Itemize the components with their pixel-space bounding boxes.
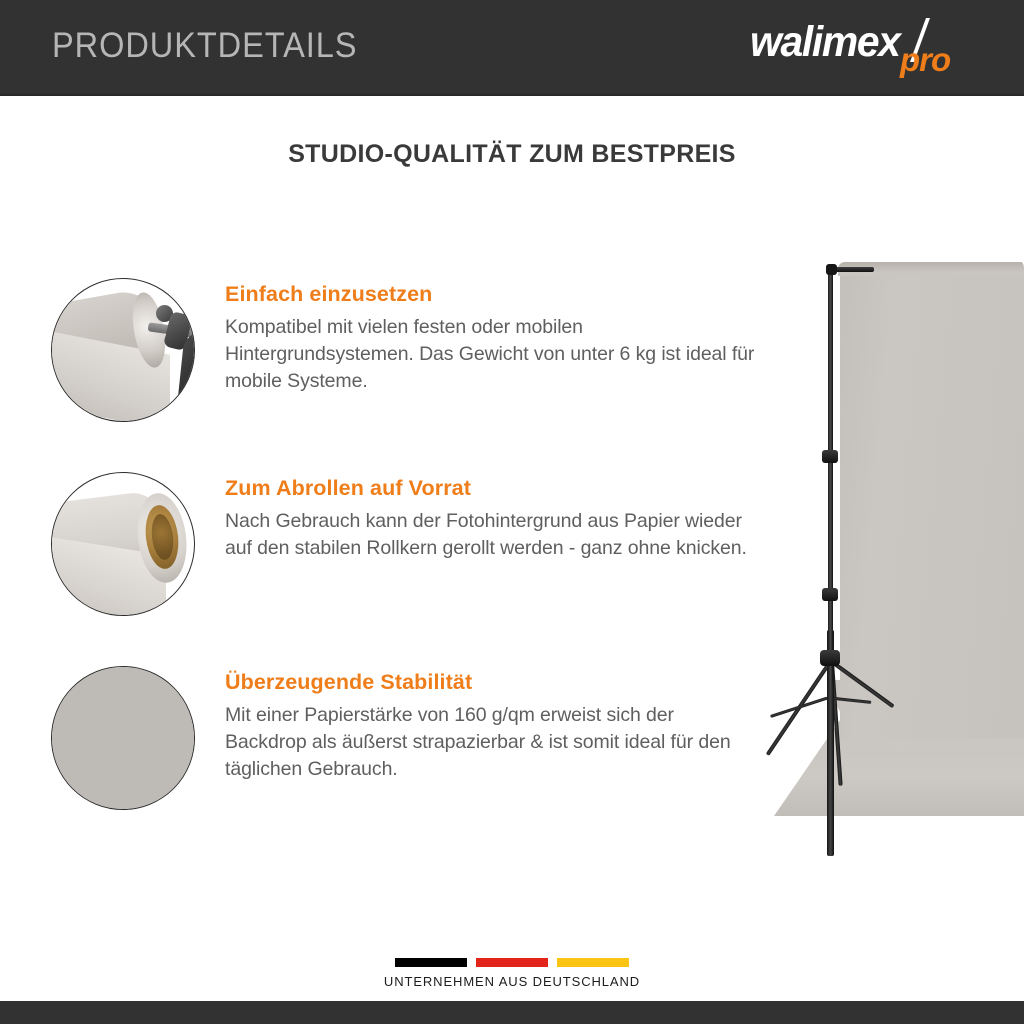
paper-roll-with-core-icon <box>51 472 195 616</box>
main-headline: STUDIO-QUALITÄT ZUM BESTPREIS <box>0 140 1024 169</box>
page-header: PRODUKTDETAILS walimex pro <box>0 0 1024 96</box>
product-detail-infographic: PRODUKTDETAILS walimex pro STUDIO-QUALIT… <box>0 0 1024 1024</box>
feature-body: Mit einer Papierstärke von 160 g/qm erwe… <box>225 702 755 783</box>
flag-bar-black <box>395 958 467 967</box>
feature-body: Kompatibel mit vielen festen oder mobile… <box>225 314 755 395</box>
stand-upper-pole <box>828 272 833 686</box>
logo-brand-text: walimex <box>750 18 900 67</box>
german-flag-bars <box>0 958 1024 967</box>
logo-suffix-text: pro <box>900 41 950 79</box>
stand-collar-upper <box>822 450 838 463</box>
feature-body: Nach Gebrauch kann der Fotohintergrund a… <box>225 508 755 562</box>
paper-roll-on-clamp-icon <box>51 278 195 422</box>
footer-caption: UNTERNEHMEN AUS DEUTSCHLAND <box>0 974 1024 989</box>
footer: UNTERNEHMEN AUS DEUTSCHLAND <box>0 958 1024 989</box>
feature-text-block: Überzeugende Stabilität Mit einer Papier… <box>225 670 755 783</box>
backdrop-paper-wall <box>840 268 1024 738</box>
feature-text-block: Zum Abrollen auf Vorrat Nach Gebrauch ka… <box>225 476 755 562</box>
flag-bar-red <box>476 958 548 967</box>
tripod-brace-left <box>770 697 828 718</box>
walimex-pro-logo: walimex pro <box>750 16 988 78</box>
stand-elbow-joint <box>826 264 837 275</box>
feature-text-block: Einfach einzusetzen Kompatibel mit viele… <box>225 282 755 395</box>
feature-title: Überzeugende Stabilität <box>225 670 755 695</box>
feature-title: Einfach einzusetzen <box>225 282 755 307</box>
page-title: PRODUKTDETAILS <box>52 26 357 66</box>
flag-bar-gold <box>557 958 629 967</box>
tripod-hub <box>820 650 840 666</box>
stand-collar-lower <box>822 588 838 601</box>
feature-title: Zum Abrollen auf Vorrat <box>225 476 755 501</box>
grey-paper-swatch-icon <box>51 666 195 810</box>
bottom-bar <box>0 1001 1024 1024</box>
product-photo <box>744 250 1024 850</box>
